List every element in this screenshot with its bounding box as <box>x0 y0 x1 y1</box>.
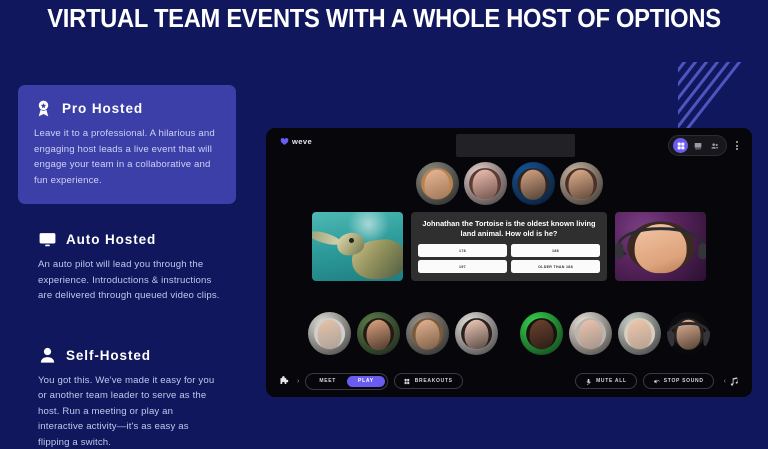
card-header: Pro Hosted <box>34 99 220 118</box>
sound-off-icon <box>653 378 660 385</box>
participant-tile[interactable] <box>464 162 507 205</box>
quiz-answer-option[interactable]: 197 <box>418 260 507 273</box>
participant-video-frame <box>406 312 449 355</box>
participant-tile[interactable] <box>357 312 400 355</box>
card-description: An auto pilot will lead you through the … <box>38 257 220 304</box>
app-top-right-controls <box>668 135 742 156</box>
participant-face <box>529 319 554 350</box>
participant-strip-bottom <box>266 312 752 355</box>
participant-video-frame <box>357 312 400 355</box>
card-title: Self-Hosted <box>66 348 151 363</box>
host-video-frame <box>615 212 706 281</box>
participant-tile[interactable] <box>455 312 498 355</box>
hosting-option-auto-hosted[interactable]: Auto Hosted An auto pilot will lead you … <box>18 216 236 320</box>
participant-tile[interactable] <box>618 312 661 355</box>
mute-all-label: MUTE ALL <box>596 378 627 384</box>
breakouts-label: BREAKOUTS <box>415 378 453 384</box>
participant-face <box>578 319 603 350</box>
microphone-off-icon <box>585 378 592 385</box>
participant-group-right <box>520 312 710 355</box>
toolbar-left-group: › MEET PLAY BREAKOUTS <box>278 373 463 390</box>
participant-face <box>521 169 546 200</box>
participant-group-left <box>308 312 498 355</box>
participant-video-frame <box>569 312 612 355</box>
quiz-question: Johnathan the Tortoise is the oldest kno… <box>418 219 600 239</box>
monitor-icon <box>38 230 57 249</box>
participant-face <box>627 319 652 350</box>
speaker-view-icon[interactable] <box>690 138 705 153</box>
participant-video-frame <box>416 162 459 205</box>
card-title: Pro Hosted <box>62 101 143 116</box>
participant-tile[interactable] <box>667 312 710 355</box>
participant-face <box>473 169 498 200</box>
headset-icon <box>617 227 704 263</box>
award-ribbon-icon <box>34 99 53 118</box>
sea-turtle-video[interactable] <box>312 212 403 281</box>
participant-tile[interactable] <box>406 312 449 355</box>
participant-face <box>569 169 594 200</box>
participant-strip-top <box>266 162 752 205</box>
stop-sound-label: STOP SOUND <box>664 378 704 384</box>
participant-video-frame <box>520 312 563 355</box>
people-view-icon[interactable] <box>707 138 722 153</box>
participant-face <box>425 169 450 200</box>
hosting-option-self-hosted[interactable]: Self-Hosted You got this. We've made it … <box>18 332 236 449</box>
event-title-placeholder <box>456 134 575 157</box>
toolbar-right-group: MUTE ALL STOP SOUND ‹ <box>575 373 740 389</box>
participant-face <box>464 319 489 350</box>
headset-icon <box>668 321 709 343</box>
page-title: VIRTUAL TEAM EVENTS WITH A WHOLE HOST OF… <box>27 5 741 34</box>
activity-stage: Johnathan the Tortoise is the oldest kno… <box>266 212 752 281</box>
mode-toggle[interactable]: MEET PLAY <box>305 373 387 390</box>
music-controls[interactable]: ‹ <box>724 376 740 387</box>
participant-face <box>317 319 342 350</box>
participant-video-frame <box>464 162 507 205</box>
tab-play[interactable]: PLAY <box>347 376 385 387</box>
participant-video-frame <box>560 162 603 205</box>
participant-tile[interactable] <box>308 312 351 355</box>
participant-video-frame <box>512 162 555 205</box>
quiz-card: Johnathan the Tortoise is the oldest kno… <box>411 212 607 281</box>
participant-video-frame <box>308 312 351 355</box>
quiz-answer-option[interactable]: OLDER THAN 188 <box>511 260 600 273</box>
card-header: Auto Hosted <box>38 230 220 249</box>
quiz-answer-grid: 178 188 197 OLDER THAN 188 <box>418 244 600 273</box>
participant-tile[interactable] <box>569 312 612 355</box>
weve-logo[interactable]: weve <box>280 137 312 146</box>
mute-all-button[interactable]: MUTE ALL <box>575 373 637 389</box>
participant-video-frame <box>667 312 710 355</box>
person-icon <box>38 346 57 365</box>
host-video[interactable] <box>615 212 706 281</box>
kebab-menu-icon[interactable] <box>732 141 742 150</box>
participant-face <box>415 319 440 350</box>
chevron-right-icon[interactable]: › <box>297 378 299 385</box>
card-description: Leave it to a professional. A hilarious … <box>34 126 220 188</box>
participant-tile[interactable] <box>512 162 555 205</box>
participant-tile[interactable] <box>416 162 459 205</box>
participant-face <box>366 319 391 350</box>
grid-view-icon[interactable] <box>673 138 688 153</box>
app-bottom-toolbar: › MEET PLAY BREAKOUTS MUTE ALL STOP SOUN… <box>266 365 752 397</box>
weve-logo-text: weve <box>292 137 312 146</box>
quiz-answer-option[interactable]: 178 <box>418 244 507 257</box>
participant-video-frame <box>455 312 498 355</box>
weve-app-window: weve <box>266 128 752 397</box>
participant-tile[interactable] <box>560 162 603 205</box>
card-header: Self-Hosted <box>38 346 220 365</box>
view-mode-switch[interactable] <box>668 135 727 156</box>
chevron-left-icon[interactable]: ‹ <box>724 378 726 385</box>
weve-heart-icon <box>280 137 289 146</box>
tab-meet[interactable]: MEET <box>308 376 347 387</box>
breakouts-button[interactable]: BREAKOUTS <box>394 373 463 389</box>
quiz-answer-option[interactable]: 188 <box>511 244 600 257</box>
card-title: Auto Hosted <box>66 232 156 247</box>
stop-sound-button[interactable]: STOP SOUND <box>643 373 714 389</box>
app-top-bar: weve <box>266 128 752 158</box>
participant-tile[interactable] <box>520 312 563 355</box>
puzzle-piece-icon[interactable] <box>278 375 291 388</box>
breakouts-grid-icon <box>404 378 411 385</box>
turtle-video-frame <box>312 212 403 281</box>
music-note-icon <box>729 376 740 387</box>
card-description: You got this. We've made it easy for you… <box>38 373 220 449</box>
participant-video-frame <box>618 312 661 355</box>
hosting-option-pro-hosted[interactable]: Pro Hosted Leave it to a professional. A… <box>18 85 236 204</box>
hosting-options-list: Pro Hosted Leave it to a professional. A… <box>18 85 236 449</box>
